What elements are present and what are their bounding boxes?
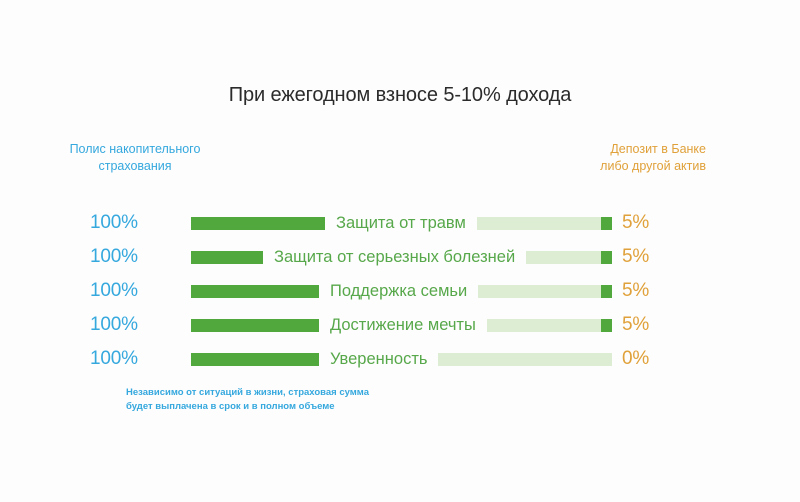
column-header-left: Полис накопительного страхования [40, 141, 230, 175]
column-header-right: Депозит в Банке либо другой актив [546, 141, 706, 175]
row-bars: Уверенность [191, 342, 612, 376]
footnote: Независимо от ситуаций в жизни, страхова… [126, 386, 456, 413]
comparison-row: 100%Защита от серьезных болезней5% [0, 240, 800, 274]
comparison-rows: 100%Защита от травм5%100%Защита от серье… [0, 206, 800, 376]
right-track [478, 285, 612, 298]
page-title: При ежегодном взносе 5-10% дохода [200, 82, 600, 108]
right-percent-label: 5% [622, 212, 702, 234]
comparison-row: 100%Защита от травм5% [0, 206, 800, 240]
left-bar [191, 285, 319, 298]
infographic-canvas: При ежегодном взносе 5-10% дохода Полис … [0, 0, 800, 502]
comparison-row: 100%Уверенность0% [0, 342, 800, 376]
right-bar-fill [601, 319, 612, 332]
right-track [487, 319, 612, 332]
row-bars: Поддержка семьи [191, 274, 612, 308]
right-percent-label: 5% [622, 314, 702, 336]
right-percent-label: 5% [622, 246, 702, 268]
left-bar [191, 353, 319, 366]
row-bars: Защита от травм [191, 206, 612, 240]
right-bar-fill [601, 285, 612, 298]
left-percent-label: 100% [90, 212, 182, 234]
right-percent-label: 0% [622, 348, 702, 370]
row-label: Защита от травм [325, 213, 477, 233]
right-track [477, 217, 612, 230]
right-track [438, 353, 612, 366]
row-label: Защита от серьезных болезней [263, 247, 526, 267]
left-percent-label: 100% [90, 246, 182, 268]
row-label: Достижение мечты [319, 315, 487, 335]
left-bar [191, 217, 325, 230]
left-bar [191, 251, 263, 264]
left-percent-label: 100% [90, 280, 182, 302]
left-percent-label: 100% [90, 314, 182, 336]
right-percent-label: 5% [622, 280, 702, 302]
row-label: Уверенность [319, 349, 438, 369]
right-track [526, 251, 612, 264]
comparison-row: 100%Достижение мечты5% [0, 308, 800, 342]
right-bar-fill [601, 217, 612, 230]
row-label: Поддержка семьи [319, 281, 478, 301]
row-bars: Защита от серьезных болезней [191, 240, 612, 274]
left-bar [191, 319, 319, 332]
comparison-row: 100%Поддержка семьи5% [0, 274, 800, 308]
row-bars: Достижение мечты [191, 308, 612, 342]
left-percent-label: 100% [90, 348, 182, 370]
right-bar-fill [601, 251, 612, 264]
